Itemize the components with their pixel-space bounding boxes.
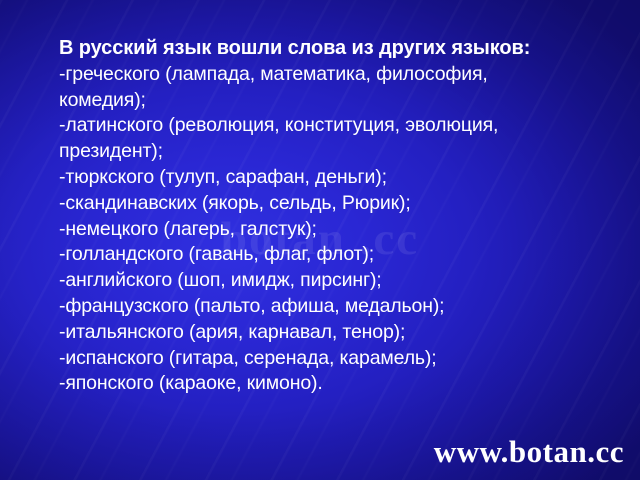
slide-title: В русский язык вошли слова из других язы… <box>59 36 605 62</box>
slide-canvas: botan .cc В русский язык вошли слова из … <box>0 0 640 480</box>
list-item: -тюркского (тулуп, сарафан, деньги); <box>59 165 605 191</box>
list-item: -греческого (лампада, математика, филосо… <box>59 62 605 88</box>
slide-text-block: В русский язык вошли слова из других язы… <box>59 36 605 397</box>
list-item: -скандинавских (якорь, сельдь, Рюрик); <box>59 191 605 217</box>
list-item: -итальянского (ария, карнавал, тенор); <box>59 320 605 346</box>
list-item: -голландского (гавань, флаг, флот); <box>59 242 605 268</box>
footer-watermark: www.botan.cc <box>434 434 624 470</box>
list-item: комедия); <box>59 88 605 114</box>
list-item: президент); <box>59 139 605 165</box>
list-item: -испанского (гитара, серенада, карамель)… <box>59 346 605 372</box>
list-item: -английского (шоп, имидж, пирсинг); <box>59 268 605 294</box>
list-item: -французского (пальто, афиша, медальон); <box>59 294 605 320</box>
list-item: -латинского (революция, конституция, эво… <box>59 113 605 139</box>
list-item: -японского (караоке, кимоно). <box>59 371 605 397</box>
list-item: -немецкого (лагерь, галстук); <box>59 217 605 243</box>
